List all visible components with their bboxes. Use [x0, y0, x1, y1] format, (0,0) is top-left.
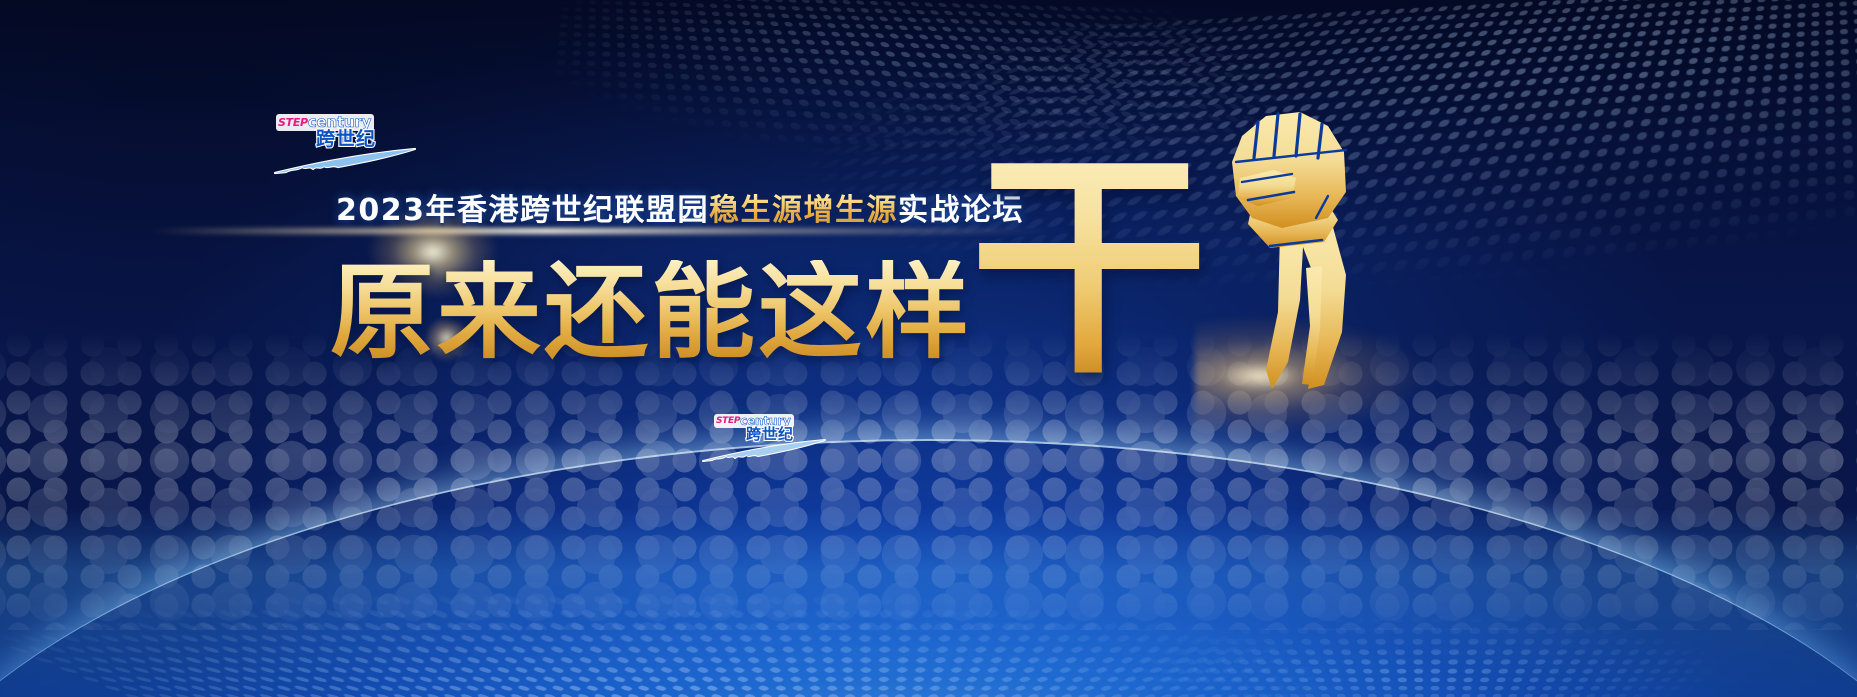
lens-flare-streak — [150, 228, 1050, 234]
event-subtitle: 2023年香港跨世纪联盟园稳生源增生源实战论坛 — [336, 196, 1024, 226]
brand-logo-top: STEP century 跨世纪 — [276, 114, 416, 149]
subtitle-highlight: 稳生源增生源 — [709, 193, 898, 228]
main-headline: 原来还能这样 干 — [330, 236, 1208, 388]
raised-fist-icon — [1196, 100, 1386, 390]
brand-logo-chinese-text-bottom: 跨世纪 — [714, 427, 826, 442]
poster-canvas: STEP century 跨世纪 2023年香港跨世纪联盟园稳生源增生源实战论坛… — [0, 0, 1857, 697]
subtitle-prefix: 2023年香港跨世纪联盟园 — [336, 193, 709, 228]
headline-main-text: 原来还能这样 — [330, 260, 972, 364]
brand-logo-step-text: STEP — [278, 117, 308, 128]
brand-logo-bottom: STEP century 跨世纪 — [714, 414, 826, 442]
headline-accent-text: 干 — [970, 150, 1208, 388]
dotted-world-map-bottom-right — [1024, 613, 1829, 697]
brand-logo-step-text-bottom: STEP — [716, 417, 740, 426]
brand-logo-chinese-text: 跨世纪 — [276, 130, 416, 149]
